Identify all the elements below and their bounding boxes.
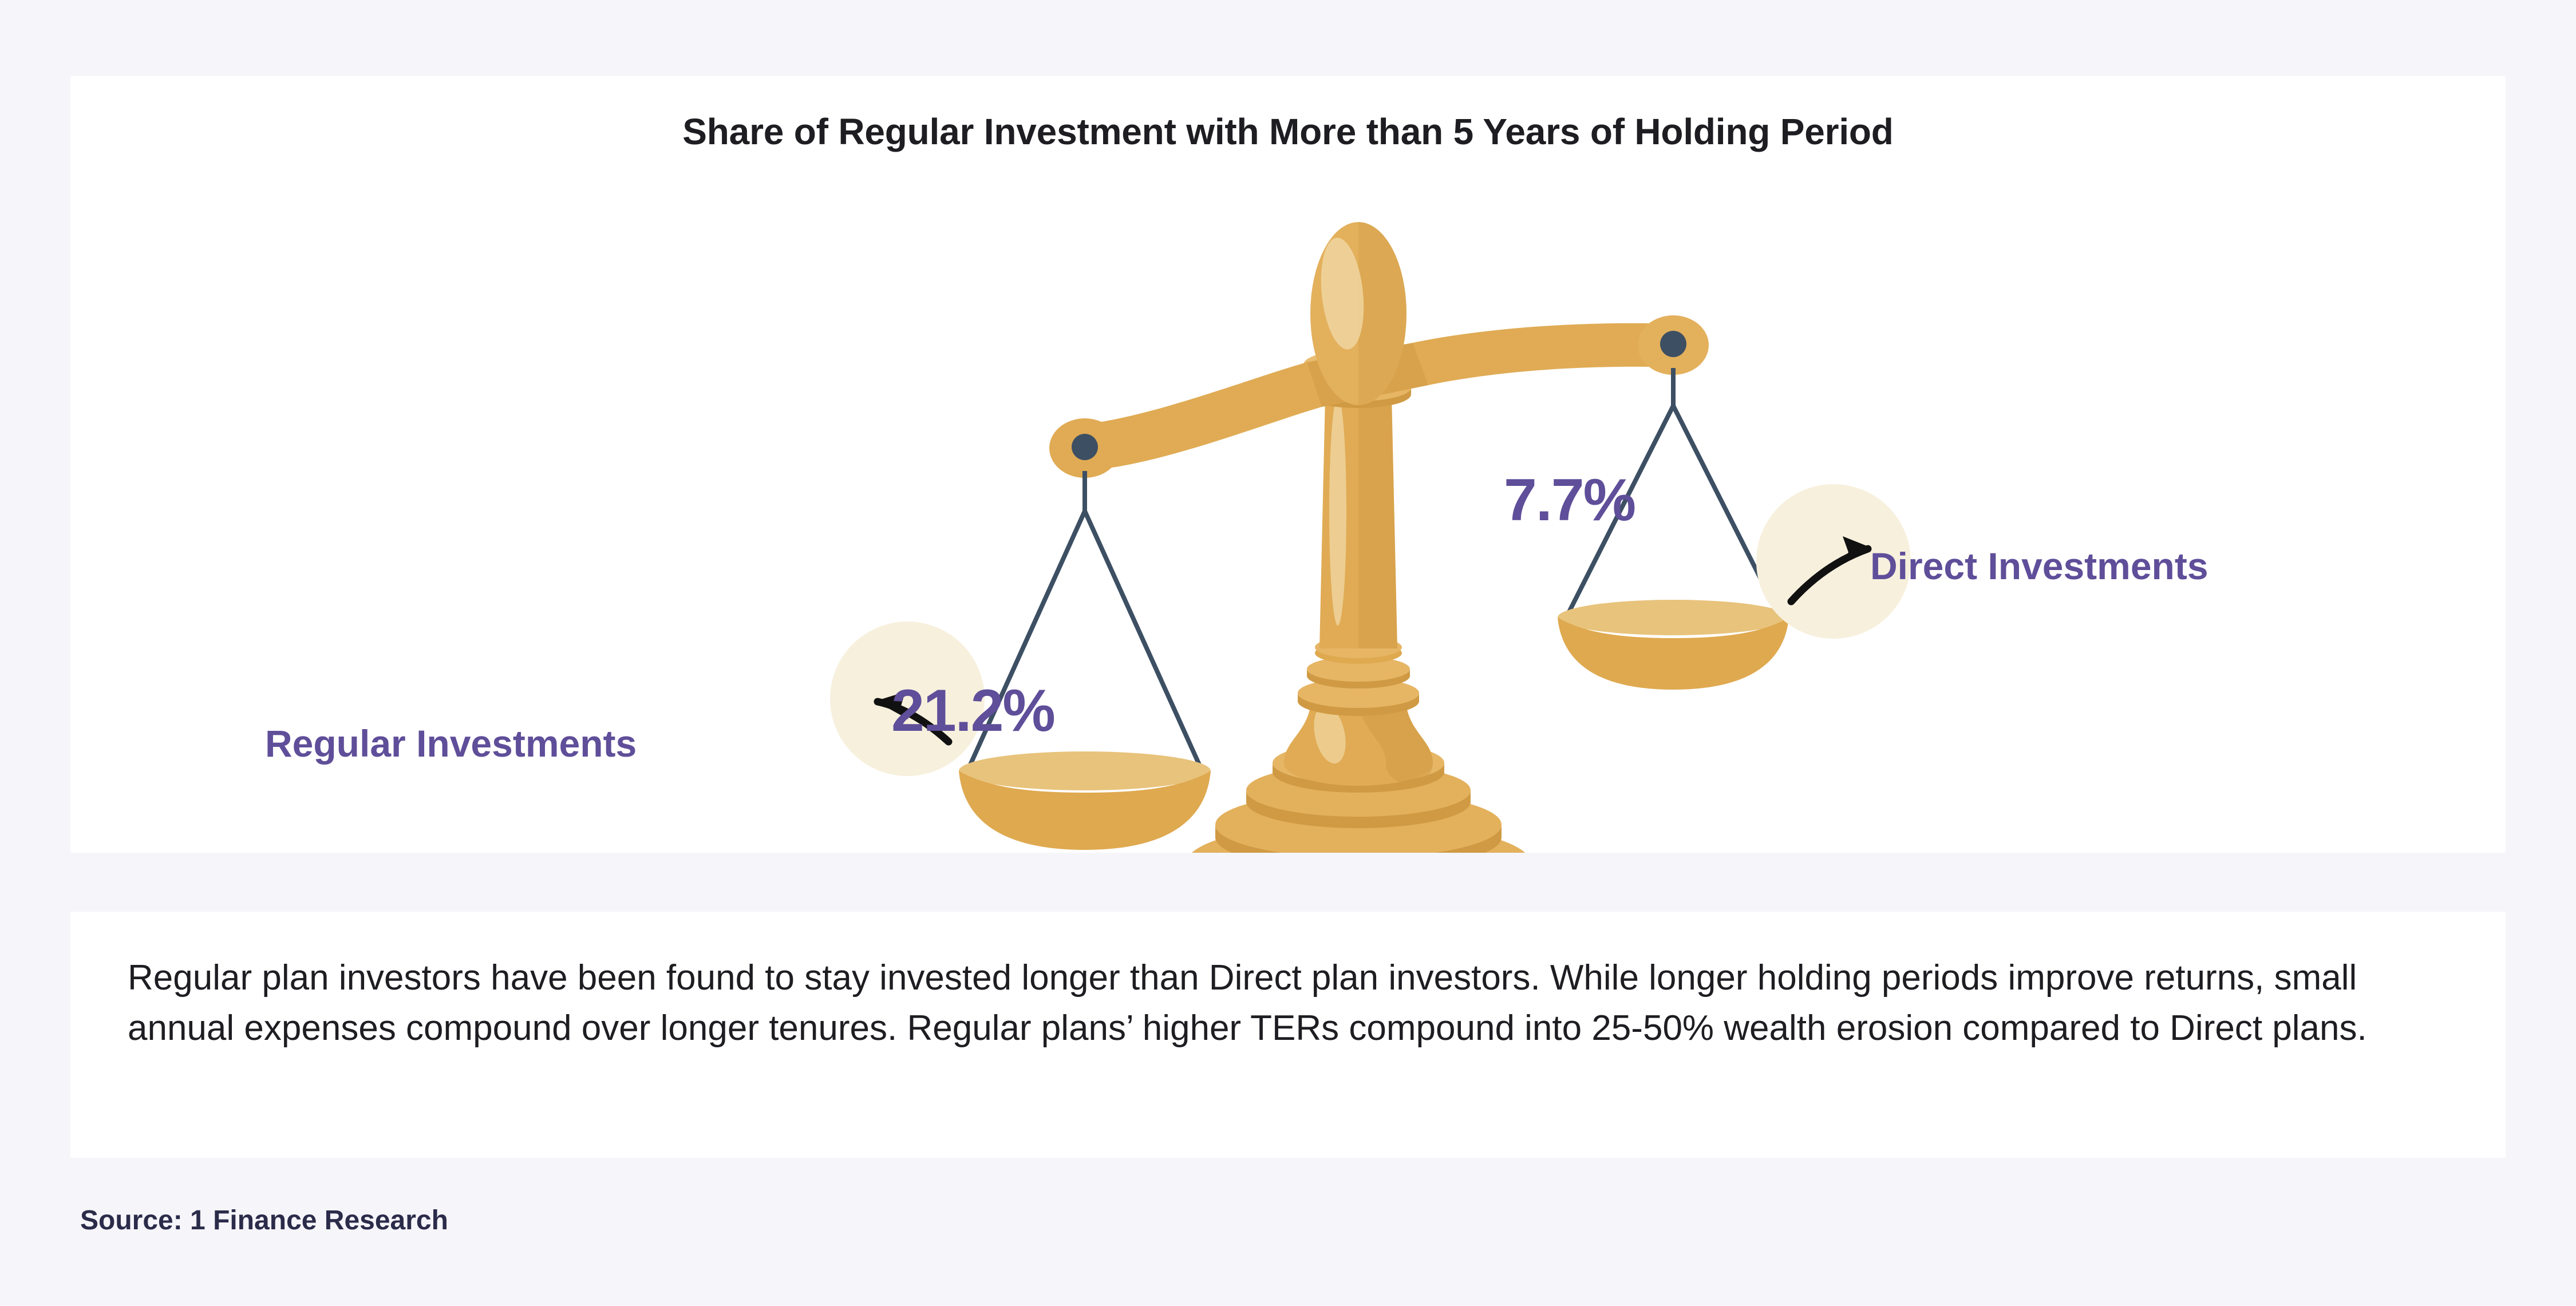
value-regular-investments: 21.2% xyxy=(891,677,1054,745)
commentary-paragraph: Regular plan investors have been found t… xyxy=(128,953,2423,1054)
scale-pan-left-icon xyxy=(959,751,1211,850)
infographic-page: Share of Regular Investment with More th… xyxy=(0,0,2576,1306)
scale-finial-icon xyxy=(1310,222,1406,405)
beam-pin-left-icon xyxy=(1072,434,1098,460)
scale-column-icon xyxy=(1319,397,1397,648)
commentary-card: Regular plan investors have been found t… xyxy=(70,912,2506,1158)
beam-pin-right-icon xyxy=(1660,331,1686,357)
scale-pan-right-icon xyxy=(1558,600,1789,690)
source-note: Source: 1 Finance Research xyxy=(80,1205,448,1236)
label-regular-investments: Regular Investments xyxy=(265,722,637,765)
value-direct-investments: 7.7% xyxy=(1504,466,1635,535)
label-direct-investments: Direct Investments xyxy=(1870,544,2208,588)
chart-card: Share of Regular Investment with More th… xyxy=(70,76,2506,853)
